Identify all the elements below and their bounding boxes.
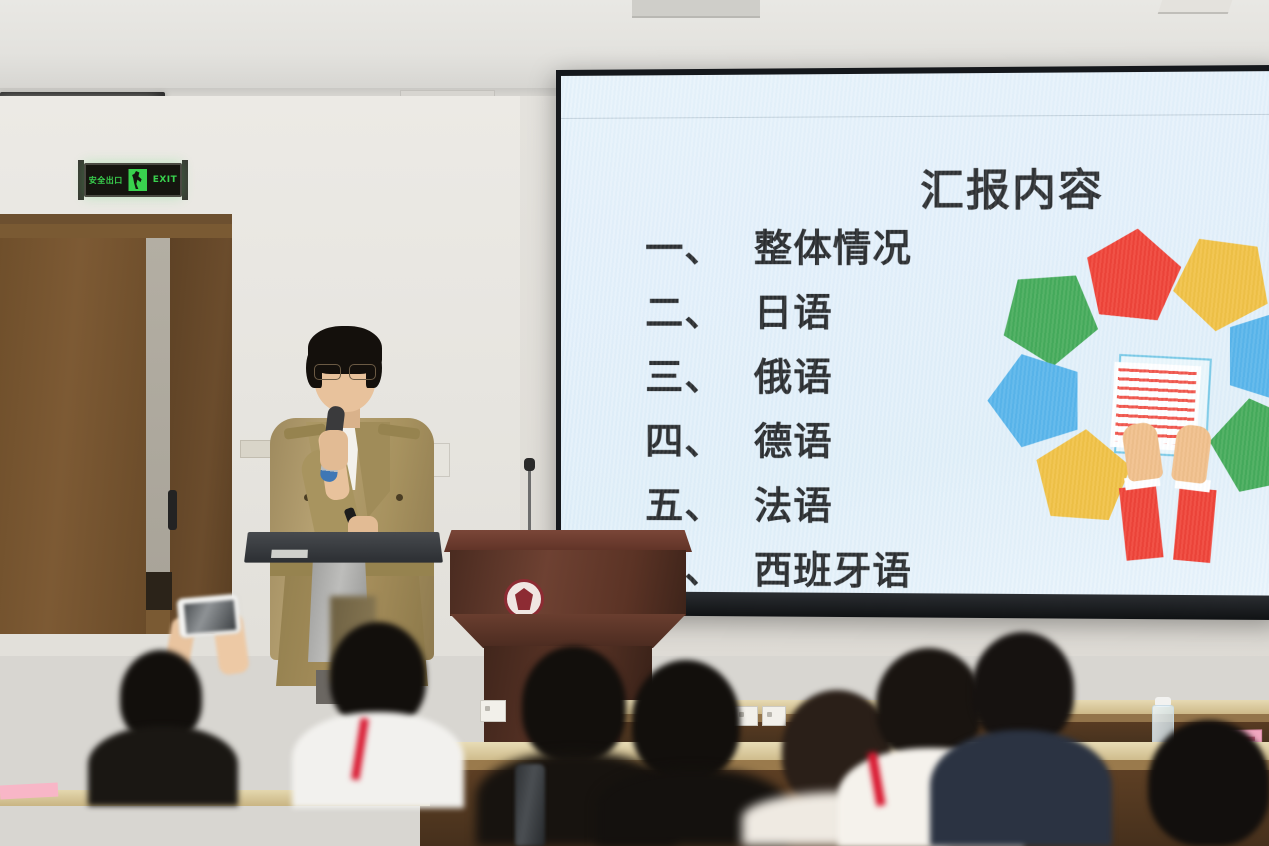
presenter-hand-holding-microphone: [320, 430, 348, 470]
door-left[interactable]: [0, 238, 146, 634]
running-man-exit-icon: [127, 169, 149, 191]
attendee-head: [972, 632, 1074, 744]
thermos-bottle: [515, 764, 545, 846]
lecture-hall-scene: 安全出口 EXIT 汇报内容 一、 整体情况 二、 日语 三、 俄语: [0, 0, 1269, 846]
door-right[interactable]: [170, 238, 232, 634]
ceiling-vent-icon: [632, 0, 760, 18]
attendee-shoulders: [930, 730, 1112, 846]
list-item-label: 法语: [754, 475, 833, 531]
gooseneck-microphone-icon[interactable]: [528, 468, 531, 532]
podium-top: [444, 530, 692, 552]
university-crest-icon: [504, 579, 544, 619]
list-item-number: 四、: [645, 410, 754, 465]
smartphone[interactable]: [176, 593, 241, 638]
list-item-number: 五、: [645, 474, 754, 530]
list-item-label: 整体情况: [754, 217, 912, 273]
list-item-label: 俄语: [754, 346, 833, 401]
list-item-label: 德语: [754, 410, 833, 466]
list-item: 三、 俄语: [645, 346, 912, 402]
exit-sign: 安全出口 EXIT: [84, 163, 182, 197]
exit-sign-chinese-label: 安全出口: [89, 175, 123, 186]
attendee-head: [1148, 720, 1269, 846]
pentagon-blue-left-icon: [987, 354, 1077, 447]
slide-surface: 汇报内容 一、 整体情况 二、 日语 三、 俄语 四、 德语: [561, 71, 1269, 596]
hand-right-icon: [1171, 423, 1213, 484]
door-threshold: [146, 572, 172, 610]
podium-body: [450, 550, 686, 616]
pentagon-blue-right-icon: [1230, 309, 1269, 403]
door-gap: [146, 238, 170, 610]
slide-divider-line: [561, 114, 1269, 119]
smartphone-screen: [184, 600, 236, 634]
glasses-icon: [314, 364, 376, 378]
attendee-head: [632, 660, 740, 780]
slide-title: 汇报内容: [920, 155, 1104, 218]
sleeve-right-icon: [1173, 487, 1216, 563]
list-item-label: 日语: [754, 282, 833, 337]
attendee-head: [522, 646, 626, 762]
wall-outlet-icon[interactable]: [480, 700, 506, 722]
pentagon-red-top-icon: [1081, 224, 1185, 322]
list-item-number: 二、: [645, 282, 754, 337]
lectern-monitor-surface[interactable]: [244, 532, 443, 563]
list-item-number: 三、: [645, 346, 754, 401]
attendee-shoulders: [292, 712, 464, 808]
coat-button-icon: [396, 494, 403, 501]
list-item-label: 西班牙语: [754, 539, 912, 595]
projector-mount: [1158, 0, 1233, 14]
list-item: 二、 日语: [645, 281, 912, 337]
sleeve-left-icon: [1119, 484, 1164, 560]
podium-skirt: [450, 614, 686, 648]
list-item: 五、 法语: [645, 474, 912, 530]
exit-sign-english-label: EXIT: [153, 175, 178, 185]
attendee-shoulders: [88, 726, 238, 806]
wall-outlet-icon[interactable]: [762, 706, 786, 726]
lectern-sticker: [271, 550, 308, 558]
door-handle-icon[interactable]: [168, 490, 177, 530]
exit-sign-bracket-right: [182, 160, 188, 200]
pentagon-ring-graphic: [985, 222, 1269, 559]
list-item: 一、 整体情况: [645, 217, 912, 273]
list-item-number: 一、: [645, 217, 754, 272]
list-item: 四、 德语: [645, 410, 912, 466]
